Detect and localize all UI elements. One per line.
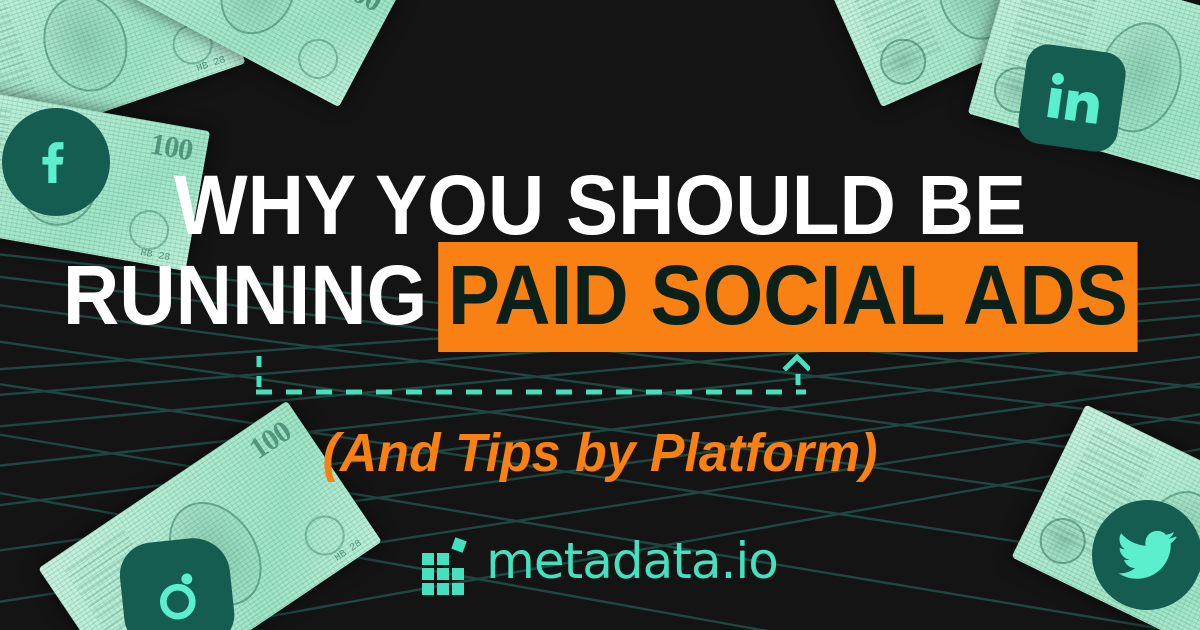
logo-wordmark: metadata.io [486,536,778,586]
dashed-bracket-with-up-arrow [250,352,810,400]
up-arrow-icon [786,357,808,368]
linkedin-icon [1016,42,1129,155]
social-share-card: HB 28 HB 28 HB 28 HB 28 HB 28 [0,0,1200,630]
subtitle: (And Tips by Platform) [0,422,1200,484]
subtitle-text: (And Tips by Platform) [323,422,878,484]
headline: WHY YOU SHOULD BE RUNNINGPAID SOCIAL ADS [0,160,1200,340]
headline-plain-text: RUNNING [63,248,428,342]
brand-logo: metadata.io [0,536,1200,586]
headline-line-1: WHY YOU SHOULD BE [42,160,1158,250]
metadata-grid-mark-icon [422,537,470,585]
headline-line-2: RUNNINGPAID SOCIAL ADS [42,250,1158,340]
headline-highlight-text: PAID SOCIAL ADS [439,242,1138,352]
